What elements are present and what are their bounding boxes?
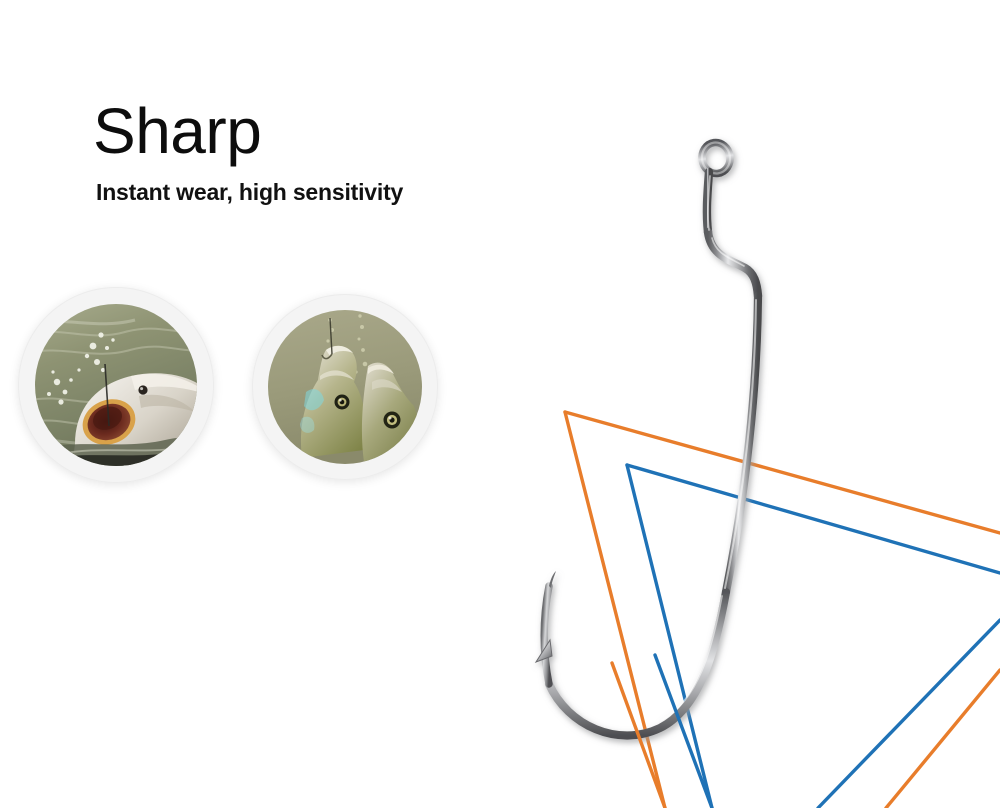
hook-upper-shank <box>707 172 709 232</box>
hook-eye <box>700 141 732 176</box>
photo-circle-two-fish <box>252 294 438 480</box>
hook-offset-z-bend <box>708 232 758 296</box>
hook-barb <box>536 640 552 662</box>
hook-u-bend <box>549 592 726 735</box>
hook-point <box>544 586 549 684</box>
blue-line-lower-right <box>818 620 1000 808</box>
blue-triangle-upper <box>627 465 1000 808</box>
page-subtitle: Instant wear, high sensitivity <box>96 178 403 206</box>
carp-photo-illustration <box>35 304 197 466</box>
hook-highlights <box>662 176 756 720</box>
photo-circle-carp <box>18 287 214 483</box>
hook-shank <box>726 296 758 592</box>
photo-clip <box>35 304 197 466</box>
two-fish-photo-illustration <box>268 310 422 464</box>
orange-triangle-upper <box>565 412 1000 808</box>
fishing-hook <box>536 141 758 736</box>
banner-canvas: Sharp Instant wear, high sensitivity <box>0 0 1000 808</box>
photo-clip <box>268 310 422 464</box>
hook-tip <box>549 571 556 588</box>
accent-lines-front <box>612 655 712 808</box>
orange-line-lower-right <box>886 670 1000 808</box>
page-title: Sharp <box>93 97 261 165</box>
